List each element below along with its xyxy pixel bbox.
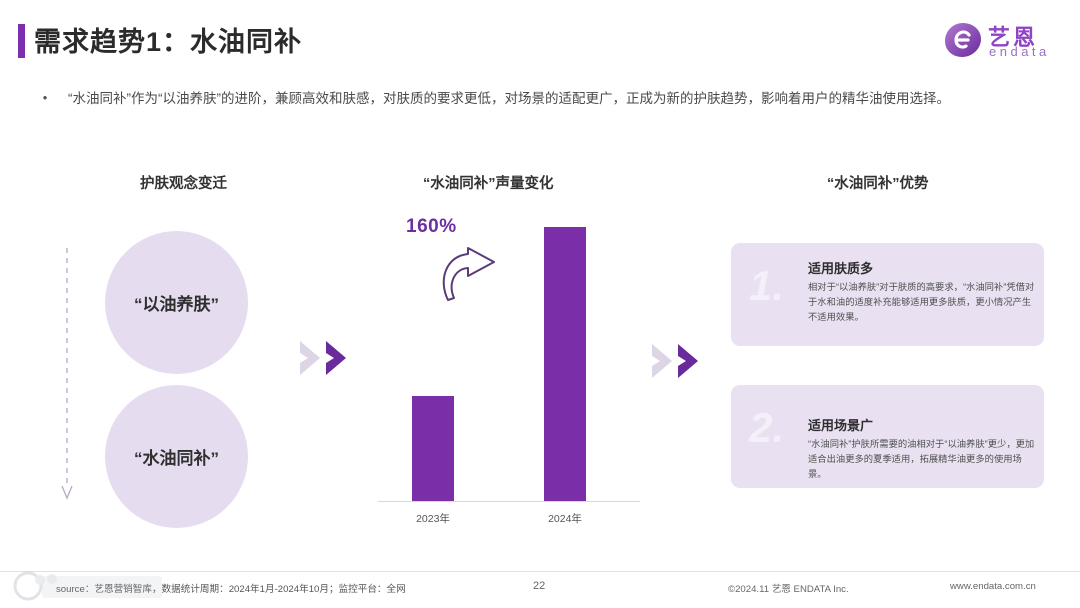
double-chevron-right-icon [298,337,362,379]
volume-bar-chart: 160% 2023年 2024年 [378,210,640,540]
page-title: 需求趋势1：水油同补 [34,20,302,59]
growth-percent-label: 160% [406,216,457,238]
bar-label-2024: 2024年 [525,511,605,526]
footer-url: www.endata.com.cn [950,581,1036,592]
double-chevron-right-icon-2 [650,340,714,382]
advantage-title-1: 适用肤质多 [808,258,873,277]
bar-2024 [544,227,586,501]
column-heading-volume: “水油同补”声量变化 [423,172,554,193]
logo-english-name: endata [989,44,1050,59]
lead-text: “水油同补”作为“以油养肤”的进阶，兼顾高效和肤感，对肤质的要求更低，对场景的适… [54,88,950,109]
concept-circle-1-label: “以油养肤” [134,290,219,315]
bullet-icon: • [36,88,54,109]
advantage-body-2: “水油同补”护肤所需要的油相对于“以油养肤”更少，更加适合出油更多的夏季适用，拓… [808,437,1036,482]
advantage-body-1: 相对于“以油养肤”对于肤质的高要求，“水油同补”凭借对于水和油的适度补充能够适用… [808,280,1036,325]
advantage-card-2: 2. 适用场景广 “水油同补”护肤所需要的油相对于“以油养肤”更少，更加适合出油… [731,385,1044,488]
page-number: 22 [533,580,545,592]
slide-canvas: 需求趋势1：水油同补 艺恩 endata • “水油同补”作为“以油养肤”的进阶… [0,0,1080,608]
advantage-title-2: 适用场景广 [808,415,873,434]
footer-copyright: ©2024.11 艺恩 ENDATA Inc. [728,581,849,595]
advantage-number-1: 1. [749,265,784,307]
endata-e-icon [944,22,982,58]
chart-axis-line [378,501,640,502]
concept-circle-1: “以油养肤” [105,231,248,374]
title-accent-bar [18,24,25,58]
dashed-down-arrow-icon [60,248,74,500]
brand-logo: 艺恩 endata [944,18,1062,66]
curved-up-arrow-icon [436,246,502,304]
advantage-number-2: 2. [749,407,784,449]
bar-2023 [412,396,454,501]
concept-circle-2: “水油同补” [105,385,248,528]
column-heading-advantages: “水油同补”优势 [827,172,929,193]
lead-paragraph: • “水油同补”作为“以油养肤”的进阶，兼顾高效和肤感，对肤质的要求更低，对场景… [36,88,996,109]
bar-label-2023: 2023年 [393,511,473,526]
advantage-card-1: 1. 适用肤质多 相对于“以油养肤”对于肤质的高要求，“水油同补”凭借对于水和油… [731,243,1044,346]
concept-circle-2-label: “水油同补” [134,444,219,469]
column-heading-concept: 护肤观念变迁 [140,172,227,193]
watermark-icon [6,570,186,606]
